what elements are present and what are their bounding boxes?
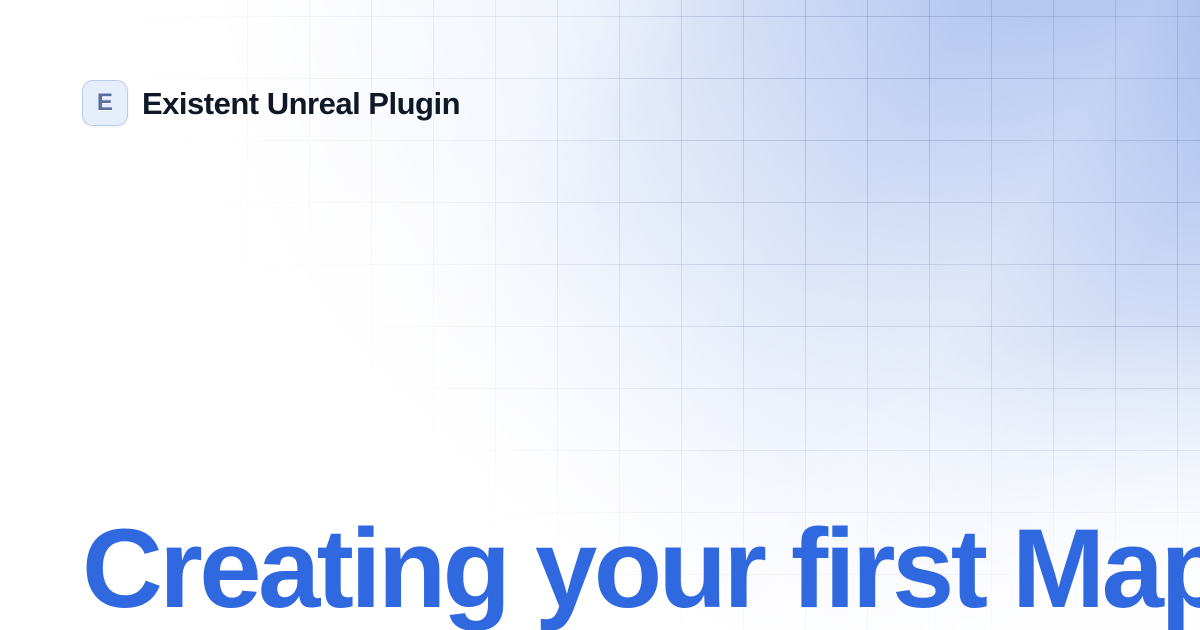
page-title: Creating your first Map [82,509,1130,630]
existent-logo-icon: E [82,80,128,126]
brand-badge-letter: E [97,91,113,115]
brand-lockup: E Existent Unreal Plugin [82,80,460,126]
brand-name: Existent Unreal Plugin [142,88,460,119]
og-card: E Existent Unreal Plugin Creating your f… [0,0,1200,630]
card-content: E Existent Unreal Plugin Creating your f… [0,0,1200,630]
